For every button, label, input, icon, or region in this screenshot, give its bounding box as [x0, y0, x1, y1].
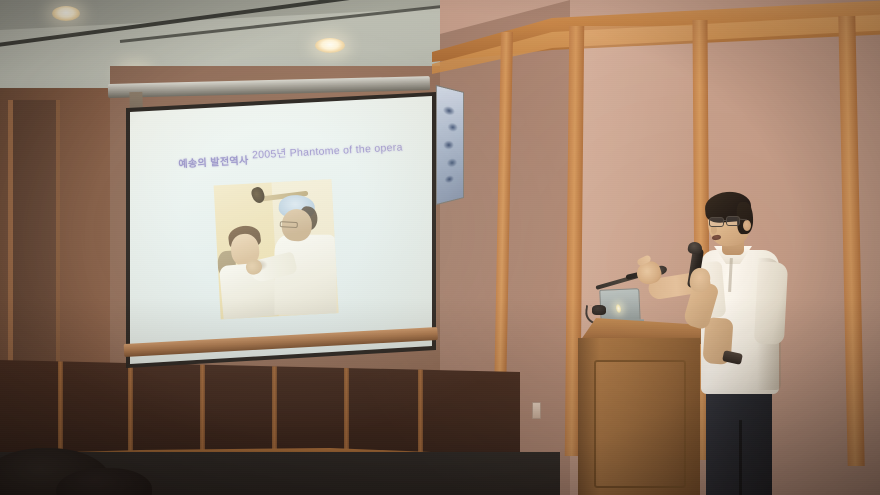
wall-mounted-sign: [436, 85, 464, 205]
podium-microphone-base: [592, 305, 606, 315]
slide-photo-medical-exam: [214, 179, 339, 319]
presenter-glasses-right-lens-icon: [726, 216, 740, 226]
downlight-icon-3: [315, 38, 345, 53]
photo-doctor-glasses-icon: [280, 221, 298, 228]
presenter-leg-seam: [739, 420, 742, 495]
wainscot-divider-4: [272, 360, 277, 460]
slide-title-korean: 예송의 발전역사: [178, 152, 249, 171]
wainscot-divider-1: [58, 360, 63, 460]
podium-front-panel: [594, 360, 686, 488]
wainscot-divider-6: [418, 360, 423, 460]
lecture-hall-scene: 예송의 발전역사 2005년 Phantome of the opera: [0, 0, 880, 495]
wainscot-divider-2: [128, 360, 133, 460]
presenter-right-sleeve: [754, 261, 788, 344]
presenter-ear: [743, 220, 751, 231]
wainscot-divider-5: [344, 360, 349, 460]
photo-exam-lamp-head: [250, 186, 267, 205]
presenter-nose: [711, 226, 717, 234]
projected-slide: 예송의 발전역사 2005년 Phantome of the opera: [130, 94, 432, 364]
presenter-glasses-left-lens-icon: [709, 217, 724, 227]
downlight-icon-1: [52, 6, 80, 21]
presenter-glasses-bridge: [723, 220, 727, 221]
wall-outlet-plate[interactable]: [532, 402, 541, 419]
wainscot-divider-3: [200, 360, 205, 460]
slide-title-english: 2005년 Phantome of the opera: [252, 139, 403, 162]
